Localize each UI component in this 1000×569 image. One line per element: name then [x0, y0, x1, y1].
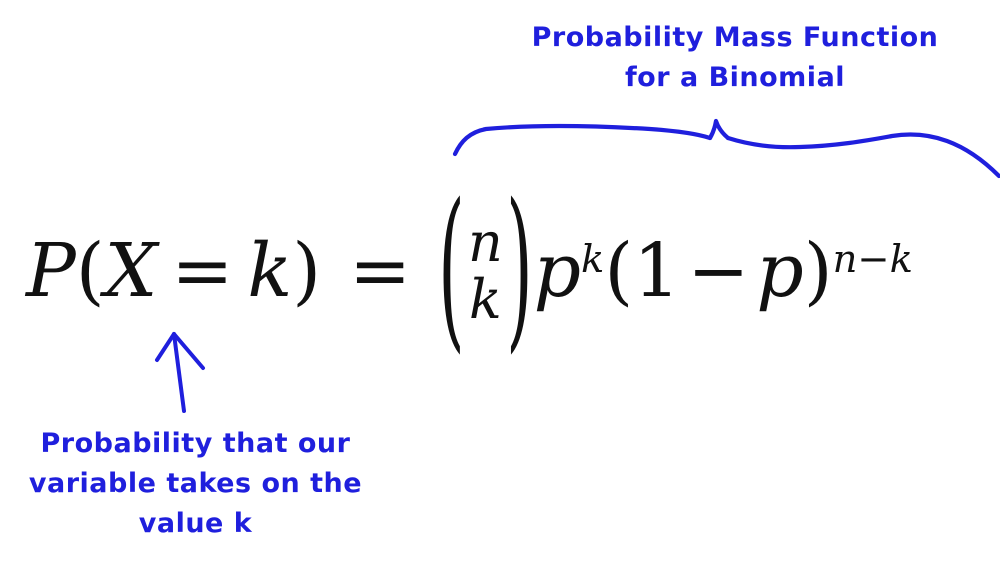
bottom-annotation-line-2: variable takes on the — [8, 464, 383, 504]
q-exponent: n−k — [833, 237, 913, 282]
bottom-annotation-line-3: value k — [8, 504, 383, 544]
binomial-k: k — [469, 271, 502, 328]
p-base: p — [534, 228, 581, 314]
binomial-close-paren: ) — [506, 217, 533, 325]
q-open-paren: ( — [604, 228, 633, 314]
p-exponent-k: k — [581, 237, 604, 282]
binomial-open-paren: ( — [438, 217, 465, 325]
binomial-coefficient: ( n k ) — [437, 214, 534, 328]
q-exponent-n: n — [833, 237, 858, 282]
formula-lhs-value: k — [247, 228, 292, 314]
top-annotation-line-2: for a Binomial — [530, 58, 940, 98]
one-minus-p-term: (1−p)n−k — [604, 228, 913, 314]
binomial-n: n — [468, 214, 503, 271]
binomial-stack: n k — [466, 214, 505, 328]
q-minus: − — [687, 228, 749, 314]
q-exponent-minus: − — [857, 237, 889, 282]
formula-lhs-close-paren: ) — [292, 228, 321, 314]
slide-canvas: Probability Mass Function for a Binomial… — [0, 0, 1000, 569]
formula-lhs-equals: = — [171, 228, 233, 314]
formula-lhs-P: P — [26, 228, 76, 314]
bottom-annotation-line-1: Probability that our — [8, 424, 383, 464]
top-annotation-line-1: Probability Mass Function — [530, 18, 940, 58]
q-one: 1 — [633, 228, 680, 314]
q-exponent-k: k — [890, 237, 913, 282]
top-annotation-text: Probability Mass Function for a Binomial — [530, 18, 940, 98]
binomial-pmf-formula: P(X=k) = ( n k ) pk (1−p)n−k — [26, 196, 913, 346]
p-power-k-term: pk — [534, 228, 605, 314]
formula-lhs-open-paren: ( — [76, 228, 105, 314]
formula-lhs-variable: X — [105, 228, 158, 314]
formula-lhs: P(X=k) — [26, 228, 321, 314]
formula-main-equals: = — [349, 228, 411, 314]
bottom-annotation-text: Probability that our variable takes on t… — [8, 424, 383, 544]
q-p: p — [756, 228, 803, 314]
q-close-paren: ) — [804, 228, 833, 314]
